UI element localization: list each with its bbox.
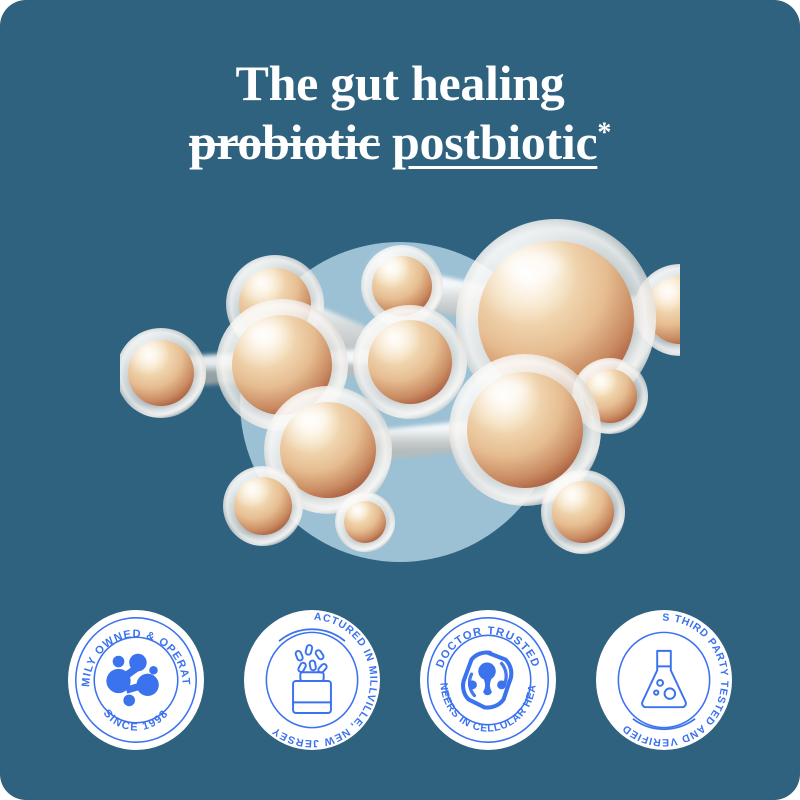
headline-highlight-word: postbiotic [392, 114, 597, 170]
molecule-node [120, 328, 206, 418]
page-title: The gut healing probiotic postbiotic* [0, 54, 800, 171]
molecule-node [223, 466, 303, 546]
headline-line-1: The gut healing [0, 54, 800, 113]
trust-badges-row: FAMILY OWNED & OPERATED SINCE 1998 [0, 605, 800, 755]
badge-third-party-tested[interactable]: ALWAYS THIRD PARTY TESTED AND VERIFIED [596, 610, 732, 750]
postbiotic-molecule-illustration [120, 200, 680, 590]
badge-doctor-trusted[interactable]: DOCTOR TRUSTED PIONEERS IN CELLULAR HEAL… [420, 610, 556, 750]
molecule-node [335, 492, 395, 552]
headline-space [380, 114, 392, 170]
badge-manufactured-nj[interactable]: MANUFACTURED IN MILLVILLE, NEW JERSEY [244, 610, 380, 750]
badge-family-owned[interactable]: FAMILY OWNED & OPERATED SINCE 1998 [68, 610, 204, 750]
headline-strikethrough-word: probiotic [189, 114, 380, 170]
molecule-node [541, 470, 625, 554]
headline-line-2: probiotic postbiotic* [0, 113, 800, 172]
headline-asterisk: * [597, 117, 611, 148]
promo-card: The gut healing probiotic postbiotic* [0, 0, 800, 800]
